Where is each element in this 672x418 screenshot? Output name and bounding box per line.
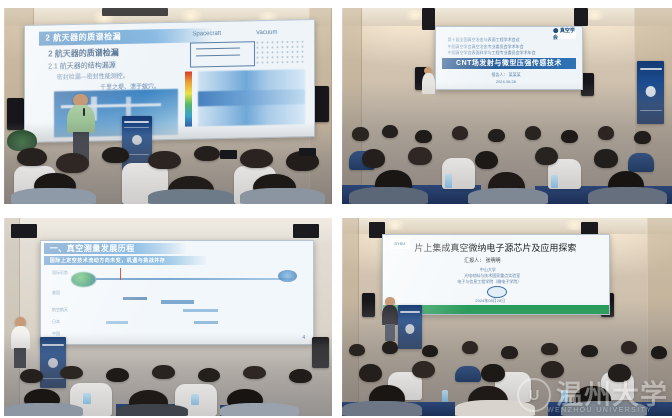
slide-logo: ⬤ 真空学会 (553, 30, 576, 39)
chair (628, 153, 655, 172)
audience-head (194, 146, 220, 161)
vacuum-particles (256, 40, 305, 66)
audience-head (501, 346, 518, 359)
slide-subtitle-bar: 国际上定空技术流动方向未变，机遇与挑战并存 (44, 256, 208, 265)
timeline-block (183, 309, 218, 312)
row-label-0: 国际形势 (52, 270, 68, 276)
cfd-contour-plot (198, 68, 305, 126)
projection-screen: 一、真空测量发展历程 国际上定空技术流动方向未变，机遇与挑战并存 国际形势 美国… (40, 240, 314, 345)
audience-head (20, 369, 43, 383)
audience-shoulders (342, 401, 422, 416)
slide-title-bar: 2 航天器的质谱检漏 (39, 28, 212, 46)
ceiling-truss-right (293, 224, 319, 238)
banner-line-1 (640, 68, 662, 70)
audience-head (525, 126, 542, 139)
audience-shoulders (588, 187, 668, 204)
audience-shoulders (116, 404, 188, 416)
audience-head (598, 126, 615, 139)
slide-affiliation-1: 中山大学 (480, 267, 496, 273)
raised-phone (299, 148, 315, 156)
timeline-marker-red (120, 268, 121, 280)
audience-head (359, 364, 382, 381)
water-bottle (442, 390, 449, 403)
audience-head (56, 153, 89, 173)
satellite-icon (278, 270, 297, 282)
slide-title-bar: 一、真空测量发展历程 (44, 243, 186, 254)
audience-head (362, 149, 385, 167)
panel-top-right[interactable]: ⬤ 真空学会 第十届全国真空冶金与表面工程学术会议 中国真空学会真空冶金专业委员… (342, 8, 672, 204)
audience-head (148, 151, 181, 170)
raised-phone (220, 150, 236, 159)
slide-presenter: 报告人： 某某某 (491, 72, 520, 78)
ceiling-truss-left (11, 224, 37, 238)
slide-line-3: 密封检漏—密封性能测控。 (56, 71, 128, 82)
audience (4, 333, 332, 416)
audience-head (349, 344, 366, 357)
water-bottle (561, 390, 568, 403)
slide-line-1: 2 航天器的质谱检漏 (48, 47, 119, 59)
slide-header-1: 第十届全国真空冶金与表面工程学术会议 (448, 37, 520, 43)
water-bottle (191, 394, 199, 405)
row-label-3: 日本 (52, 319, 60, 325)
audience-head (541, 343, 558, 356)
audience-head (152, 365, 175, 378)
ceiling-light-1 (382, 220, 409, 230)
audience-head (289, 369, 312, 383)
timeline-block (106, 321, 128, 324)
audience-shoulders (455, 400, 535, 416)
ceiling (342, 8, 672, 26)
audience-shoulders (11, 188, 96, 204)
audience-head (452, 126, 469, 139)
ceiling-truss (102, 8, 168, 16)
audience-head (608, 364, 631, 381)
audience-head (408, 147, 431, 165)
panel-top-left[interactable]: 2 航天器的质谱检漏 2 航天器的质谱检漏 2.1 航天器的结构漏源 密封检漏—… (4, 8, 332, 204)
audience-head (481, 364, 504, 381)
audience-head (102, 147, 128, 163)
audience-head (60, 366, 83, 379)
audience-head (198, 368, 221, 382)
audience-head (240, 149, 273, 168)
row-label-2: 航空航天 (52, 307, 68, 313)
projection-screen: ⬤ 真空学会 第十届全国真空冶金与表面工程学术会议 中国真空学会真空冶金专业委员… (435, 26, 583, 91)
audience-head (541, 361, 564, 378)
panel-bottom-right[interactable]: SYSU 片上集成真空微纳电子源芯片及应用探索 汇报人： 张明明 中山大学 光电… (342, 218, 672, 416)
ceiling-truss-right (574, 8, 587, 26)
ceiling-light-2 (175, 10, 208, 22)
figure-label-vacuum: Vacuum (256, 30, 278, 36)
university-seal (487, 286, 507, 298)
water-bottle (551, 175, 558, 188)
slide-affiliation-3: 电子与信息工程学院（微电子学院） (457, 279, 521, 285)
audience-head (106, 368, 129, 382)
audience-head (422, 345, 439, 358)
timeline-block (161, 300, 194, 303)
audience-head (651, 346, 668, 359)
audience (4, 122, 332, 204)
audience-shoulders (561, 401, 647, 416)
slide-title-bar: CNT场发射与微型压强传感技术 (442, 58, 576, 69)
figure-label-spacecraft: Spacecraft (192, 31, 221, 38)
audience (342, 82, 672, 204)
timeline-block (194, 321, 219, 324)
audience-head (488, 129, 505, 142)
ceiling-truss-left (422, 8, 435, 30)
water-bottle (445, 174, 452, 189)
nozzle-schematic (189, 41, 254, 67)
audience-shoulders (4, 403, 83, 416)
audience-head (352, 127, 369, 140)
audience-head (634, 131, 651, 144)
audience-head (475, 151, 498, 169)
slide-affiliation-2: 光电材料与技术国家重点实验室 (464, 273, 520, 279)
chair (455, 366, 482, 382)
audience-head (535, 147, 558, 165)
timeline-block (123, 297, 148, 300)
audience-shoulders (349, 187, 429, 204)
audience-shoulders (148, 189, 233, 204)
slide-line-2: 2.1 航天器的结构漏源 (48, 60, 116, 71)
audience (342, 301, 672, 416)
audience-shoulders (240, 188, 325, 204)
audience-head (594, 149, 617, 167)
audience-head (412, 361, 435, 378)
slide-header-2: 中国真空学会真空冶金专业委员会学术年会 (448, 44, 524, 50)
audience-head (462, 341, 479, 354)
slide-presenter: 汇报人： 张明明 (464, 257, 500, 264)
slide-title: 片上集成真空微纳电子源芯片及应用探索 (414, 241, 576, 254)
slide-logo: SYSU (390, 239, 410, 249)
panel-bottom-left[interactable]: 一、真空测量发展历程 国际上定空技术流动方向未变，机遇与挑战并存 国际形势 美国… (4, 218, 332, 416)
timeline-axis (96, 278, 292, 281)
audience-head (243, 366, 266, 379)
row-label-1: 美国 (52, 290, 60, 296)
audience-head (17, 148, 47, 166)
audience-head (621, 341, 638, 354)
audience-shoulders (468, 188, 548, 204)
slide-header-3: 中国真空学会表面科学与工程专业委员会学术年会 (448, 50, 536, 56)
cfd-colorbar (185, 71, 192, 127)
water-bottle (83, 393, 91, 405)
audience-head (415, 130, 432, 143)
audience-head (382, 341, 399, 354)
audience-head (382, 125, 399, 138)
photo-collage: 2 航天器的质谱检漏 2 航天器的质谱检漏 2.1 航天器的结构漏源 密封检漏—… (0, 0, 672, 418)
globe-icon (71, 272, 96, 287)
audience-head (581, 345, 598, 358)
audience-head (561, 130, 578, 143)
audience-shoulders (220, 403, 299, 416)
